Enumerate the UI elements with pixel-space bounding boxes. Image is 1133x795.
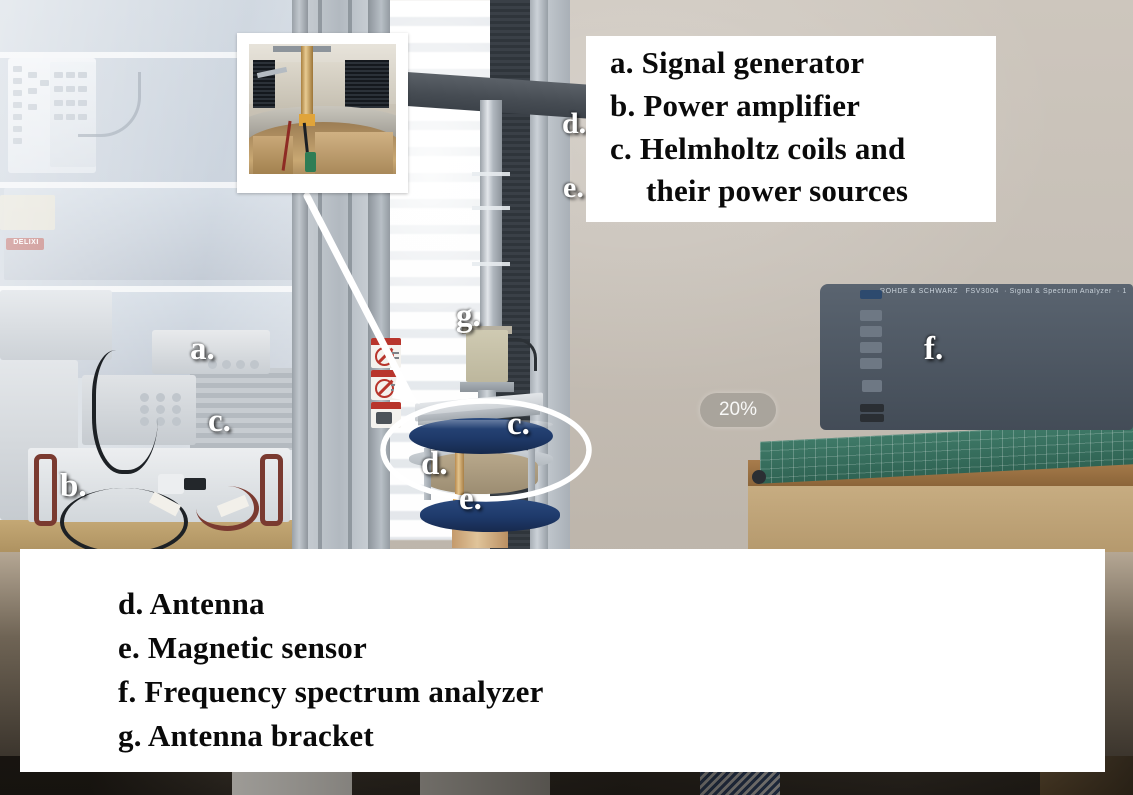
analyzer-range: 10 Hz - 4 GHz	[1123, 288, 1126, 295]
legend-line: d. Antenna	[20, 582, 1105, 626]
warning-sticker-3	[371, 402, 401, 428]
amplifier-handle-right	[260, 454, 283, 526]
marker-d-coil: d.	[421, 448, 448, 481]
marker-d-inset: d.	[562, 109, 586, 139]
marker-a: a.	[190, 333, 215, 366]
legend-line: b. Power amplifier	[586, 85, 996, 128]
inset-blind-left	[253, 60, 275, 108]
spectrum-analyzer: ROHDE & SCHWARZ FSV3004 · Signal & Spect…	[820, 284, 1133, 430]
inset-antenna	[301, 46, 313, 124]
marker-b: b.	[60, 470, 87, 503]
load-rod	[480, 100, 502, 340]
legend-box-bottom: d. Antenna e. Magnetic sensor f. Frequen…	[20, 549, 1105, 772]
analyzer-subtitle: Signal & Spectrum Analyzer	[1010, 288, 1112, 295]
inset-closeup-photo: d. e.	[237, 33, 408, 193]
legend-line: a. Signal generator	[586, 42, 996, 85]
marker-c-equipment: c.	[208, 405, 231, 438]
warning-sticker-1	[371, 338, 401, 368]
analyzer-brand-strip: ROHDE & SCHWARZ FSV3004 · Signal & Spect…	[880, 288, 1126, 300]
legend-line: their power sources	[586, 170, 996, 213]
analyzer-brand: ROHDE & SCHWARZ	[880, 288, 958, 295]
legend-line: c. Helmholtz coils and	[586, 128, 996, 171]
inset-magnetic-sensor	[305, 152, 316, 172]
marker-e-inset: e.	[563, 173, 584, 203]
legend-line: f. Frequency spectrum analyzer	[20, 670, 1105, 714]
zoom-level-badge[interactable]: 20%	[700, 393, 776, 427]
legend-line: e. Magnetic sensor	[20, 626, 1105, 670]
zoom-level-label: 20%	[719, 399, 757, 421]
inset-photo-image	[249, 44, 396, 174]
analyzer-model: FSV3004	[966, 288, 999, 295]
amplifier-handle-left	[34, 454, 57, 526]
warning-sticker-2	[371, 370, 401, 400]
marker-f: f.	[924, 333, 943, 366]
screenshot-root: DELIXI	[0, 0, 1133, 795]
marker-e-coil: e.	[459, 483, 482, 516]
marker-g: g.	[456, 300, 481, 333]
coil-post-right	[528, 446, 535, 502]
helmholtz-coil-lower	[420, 498, 560, 532]
antenna-bracket	[466, 330, 508, 382]
marker-c-coil: c.	[507, 408, 530, 441]
legend-line: g. Antenna bracket	[20, 714, 1105, 758]
transit-case-upper	[0, 290, 112, 360]
inset-blind-right	[345, 60, 389, 108]
legend-box-top: a. Signal generator b. Power amplifier c…	[586, 36, 996, 222]
